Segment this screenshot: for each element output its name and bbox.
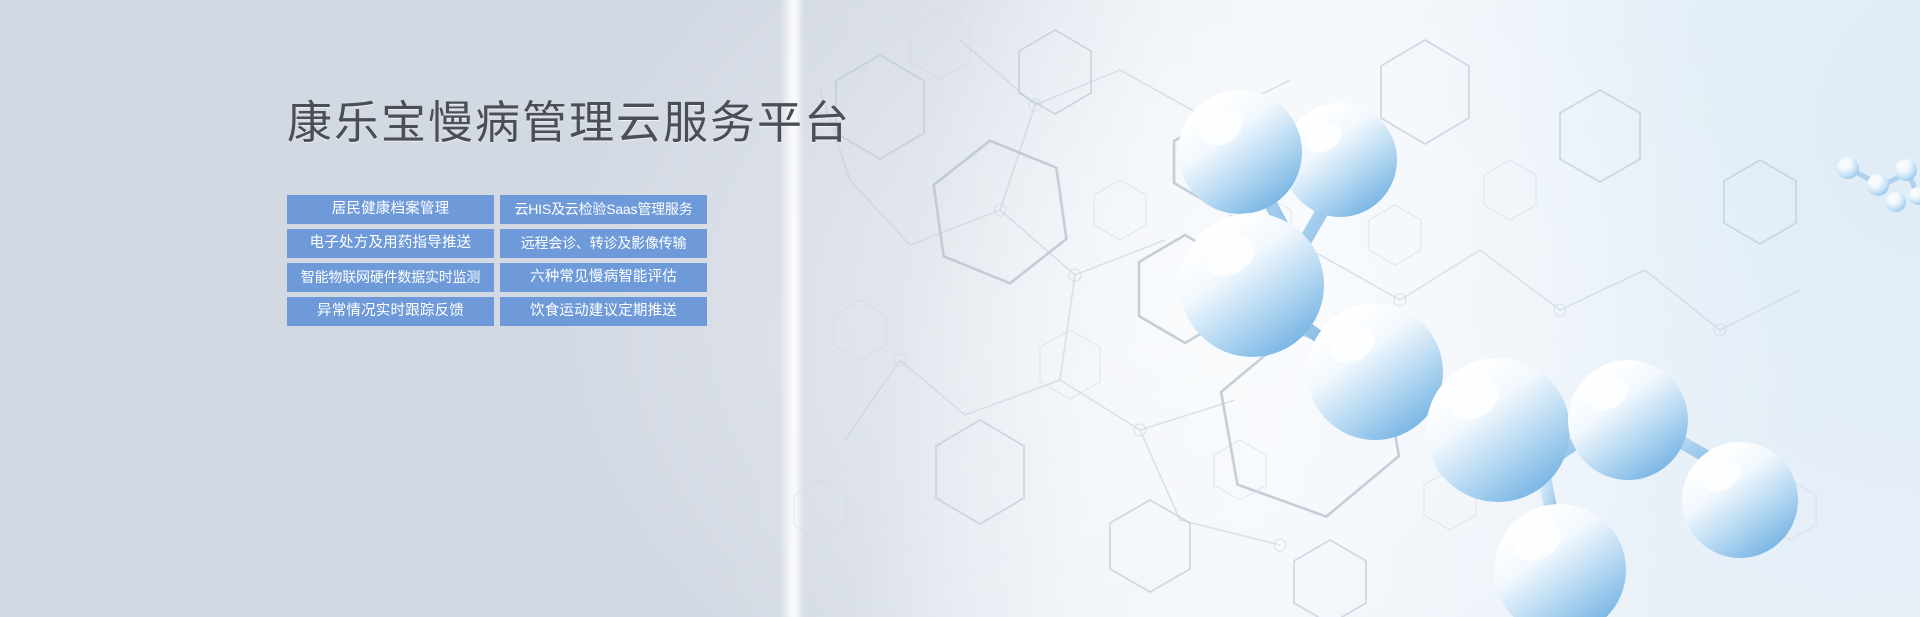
hero-banner: 康乐宝慢病管理云服务平台 居民健康档案管理 云HIS及云检验Saas管理服务 电… — [0, 0, 1920, 617]
banner-content: 康乐宝慢病管理云服务平台 居民健康档案管理 云HIS及云检验Saas管理服务 电… — [287, 96, 1047, 326]
feature-tag-resident-health-records[interactable]: 居民健康档案管理 — [287, 195, 494, 224]
feature-tag-grid: 居民健康档案管理 云HIS及云检验Saas管理服务 电子处方及用药指导推送 远程… — [287, 195, 1047, 326]
feature-tag-abnormal-tracking-feedback[interactable]: 异常情况实时跟踪反馈 — [287, 297, 494, 326]
feature-tag-remote-consultation-imaging[interactable]: 远程会诊、转诊及影像传输 — [500, 229, 707, 258]
feature-tag-six-chronic-disease-assessment[interactable]: 六种常见慢病智能评估 — [500, 263, 707, 292]
feature-tag-e-prescription-medication-guidance[interactable]: 电子处方及用药指导推送 — [287, 229, 494, 258]
feature-tag-cloud-his-lab-saas[interactable]: 云HIS及云检验Saas管理服务 — [500, 195, 707, 224]
page-title: 康乐宝慢病管理云服务平台 — [287, 96, 1047, 149]
feature-tag-diet-exercise-advice-push[interactable]: 饮食运动建议定期推送 — [500, 297, 707, 326]
feature-tag-iot-hardware-monitoring[interactable]: 智能物联网硬件数据实时监测 — [287, 263, 494, 292]
